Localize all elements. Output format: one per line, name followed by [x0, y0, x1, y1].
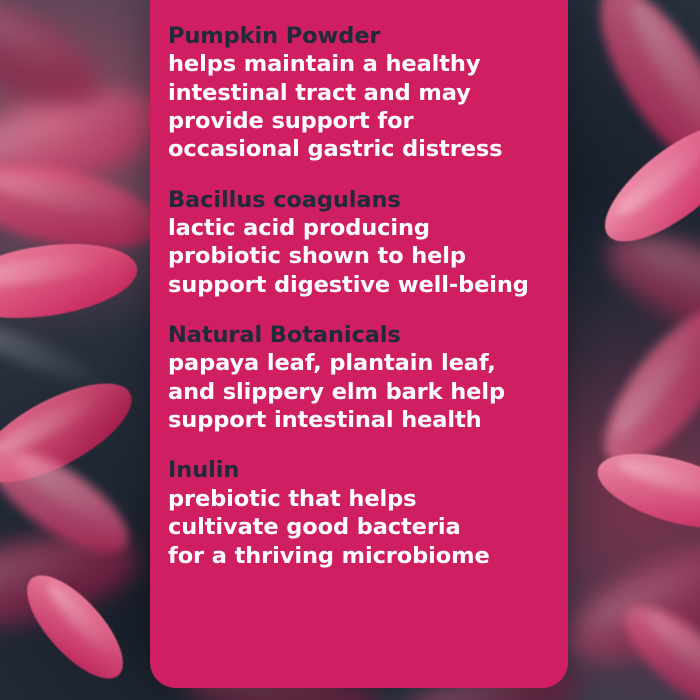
ingredient-description-line: support intestinal health [168, 406, 546, 434]
ingredient-block-inulin: Inulin prebiotic that helps cultivate go… [168, 456, 546, 569]
ingredient-description-line: lactic acid producing [168, 214, 546, 242]
ingredient-title: Natural Botanicals [168, 321, 546, 349]
ingredient-block-bacillus-coagulans: Bacillus coagulans lactic acid producing… [168, 186, 546, 299]
ingredient-panel: Pumpkin Powder helps maintain a healthy … [150, 0, 568, 688]
ingredient-description-line: occasional gastric distress [168, 135, 546, 163]
ingredient-block-natural-botanicals: Natural Botanicals papaya leaf, plantain… [168, 321, 546, 434]
ingredient-description-line: intestinal tract and may [168, 79, 546, 107]
ingredient-title: Pumpkin Powder [168, 22, 546, 50]
ingredient-description-line: papaya leaf, plantain leaf, [168, 349, 546, 377]
ingredient-description-line: provide support for [168, 107, 546, 135]
ingredient-description-line: support digestive well-being [168, 271, 546, 299]
ingredient-description-line: prebiotic that helps [168, 485, 546, 513]
poster: Pumpkin Powder helps maintain a healthy … [0, 0, 700, 700]
ingredient-description-line: for a thriving microbiome [168, 542, 546, 570]
ingredient-block-pumpkin-powder: Pumpkin Powder helps maintain a healthy … [168, 22, 546, 164]
ingredient-list: Pumpkin Powder helps maintain a healthy … [168, 22, 546, 570]
ingredient-title: Bacillus coagulans [168, 186, 546, 214]
ingredient-title: Inulin [168, 456, 546, 484]
ingredient-description-line: helps maintain a healthy [168, 50, 546, 78]
ingredient-description-line: and slippery elm bark help [168, 378, 546, 406]
ingredient-description-line: probiotic shown to help [168, 242, 546, 270]
ingredient-description-line: cultivate good bacteria [168, 513, 546, 541]
